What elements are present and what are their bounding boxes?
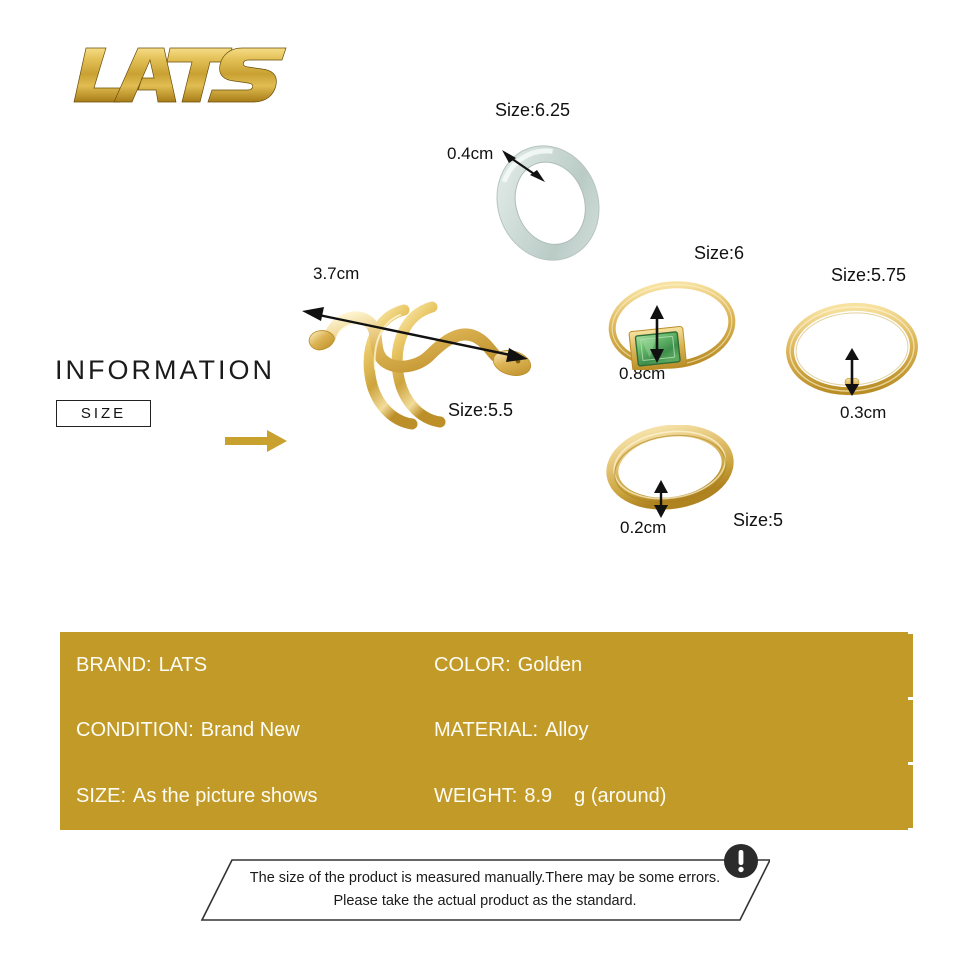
spec-cell-size: SIZE: As the picture shows <box>62 765 417 828</box>
spec-unit-weight: g (around) <box>574 785 666 808</box>
product-infographic: INFORMATION SIZE Size:6.25 0.4cm <box>0 0 960 960</box>
spec-cell-condition: CONDITION: Brand New <box>62 700 417 763</box>
spec-value-size: As the picture shows <box>133 785 318 808</box>
spec-cell-color: COLOR: Golden <box>420 634 913 697</box>
spec-key-color: COLOR: <box>434 654 511 677</box>
spec-cell-brand: BRAND: LATS <box>62 634 417 697</box>
snake-ring-dimension-arrow-icon <box>300 300 530 370</box>
plain-gold-band-size-label: Size:5 <box>733 510 783 531</box>
spec-key-size: SIZE: <box>76 785 126 808</box>
disclaimer-banner: The size of the product is measured manu… <box>200 852 770 927</box>
spec-cell-weight: WEIGHT: 8.9 g (around) <box>420 765 913 828</box>
plain-gold-band-dimension-arrow-icon <box>650 480 672 518</box>
spec-value-material: Alloy <box>545 719 588 742</box>
spec-key-weight: WEIGHT: <box>434 785 517 808</box>
spec-cell-material: MATERIAL: Alloy <box>420 700 913 763</box>
spec-value-weight: 8.9 <box>524 785 552 808</box>
spec-key-condition: CONDITION: <box>76 719 194 742</box>
plain-gold-band-dimension-label: 0.2cm <box>620 518 666 538</box>
jade-ring-dimension-arrow-icon <box>500 148 548 186</box>
thin-gold-ring-size-label: Size:5.75 <box>831 265 906 286</box>
green-stone-ring-size-label: Size:6 <box>694 243 744 264</box>
exclamation-icon <box>720 840 762 882</box>
spec-key-material: MATERIAL: <box>434 719 538 742</box>
product-gallery: Size:6.25 0.4cm <box>0 0 960 600</box>
spec-value-brand: LATS <box>159 654 208 677</box>
spec-value-color: Golden <box>518 654 583 677</box>
jade-ring-dimension-label: 0.4cm <box>447 144 493 164</box>
thin-gold-ring-dimension-label: 0.3cm <box>840 403 886 423</box>
spec-value-condition: Brand New <box>201 719 300 742</box>
green-stone-ring-image <box>605 275 740 370</box>
specification-table: BRAND: LATS COLOR: Golden CONDITION: Bra… <box>60 632 908 830</box>
thin-gold-ring-dimension-arrow-icon <box>840 348 864 396</box>
green-stone-ring-dimension-arrow-icon <box>645 305 669 363</box>
jade-ring-size-label: Size:6.25 <box>495 100 570 121</box>
spec-key-brand: BRAND: <box>76 654 152 677</box>
